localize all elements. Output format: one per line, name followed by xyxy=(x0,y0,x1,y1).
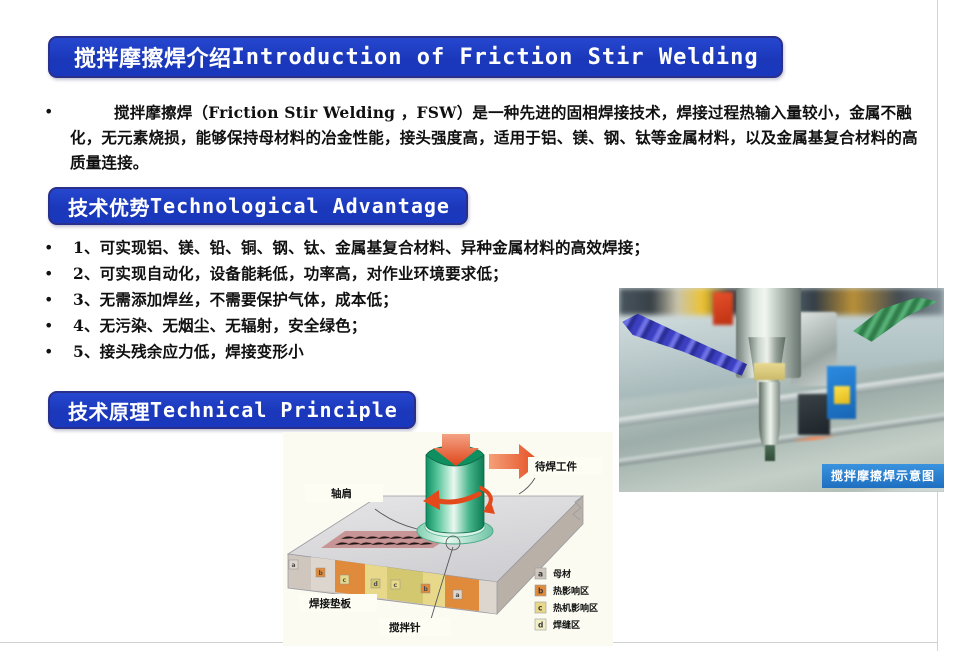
bullet-marker: • xyxy=(44,313,53,339)
heading-principle-en: Technical Principle xyxy=(150,398,398,422)
bullet-marker: • xyxy=(44,339,53,365)
zone-key-a-left: a xyxy=(292,562,296,569)
fsw-principle-diagram: 轴肩 待焊工件 焊接垫板 搅拌针 a b c d c b a xyxy=(283,432,613,646)
legend-label-c: 热机影响区 xyxy=(553,602,598,614)
introduction-paragraph-text: 搅拌摩擦焊（Friction Stir Welding ，FSW）是一种先进的固… xyxy=(70,100,924,175)
bullet-marker: • xyxy=(44,104,53,120)
heading-advantage-cn: 技术优势 xyxy=(68,192,150,221)
zone-base-right xyxy=(479,580,497,614)
legend-label-b: 热影响区 xyxy=(553,585,589,597)
bullet-marker: • xyxy=(44,235,53,261)
zone-key-c-right: c xyxy=(394,582,398,589)
heading-principle-cn: 技术原理 xyxy=(68,396,150,425)
legend-key-d: d xyxy=(538,621,543,630)
list-item-label: 3、无需添加焊丝，不需要保护气体，成本低； xyxy=(73,287,644,313)
heading-banner-advantage: 技术优势Technological Advantage xyxy=(48,187,468,225)
diagram-label-shoulder: 轴肩 xyxy=(331,487,352,500)
list-item: • 5、接头残余应力低，焊接变形小 xyxy=(44,339,644,365)
photo-welding-tool xyxy=(759,382,780,451)
photo-tool-collar xyxy=(754,363,785,379)
list-item: • 2、可实现自动化，设备能耗低，功率高，对作业环境要求低； xyxy=(44,261,644,287)
photo-red-part xyxy=(713,292,733,325)
legend-label-a: 母材 xyxy=(553,568,571,580)
photo-dark-bracket xyxy=(798,394,831,435)
fsw-machine-photo: 搅拌摩擦焊示意图 xyxy=(619,288,944,492)
heading-advantage-en: Technological Advantage xyxy=(150,194,450,218)
photo-caption: 搅拌摩擦焊示意图 xyxy=(822,464,944,488)
list-item: • 4、无污染、无烟尘、无辐射，安全绿色； xyxy=(44,313,644,339)
heading-introduction-en: Introduction of Friction Stir Welding xyxy=(232,45,759,70)
bullet-marker: • xyxy=(44,287,53,313)
heading-banner-introduction: 搅拌摩擦焊介绍Introduction of Friction Stir Wel… xyxy=(48,36,783,78)
diagram-label-workpiece: 待焊工件 xyxy=(535,460,577,473)
zone-key-b-left: b xyxy=(319,570,324,577)
zone-key-d: d xyxy=(374,581,378,588)
legend-key-a: a xyxy=(538,570,543,579)
zone-key-a-right: a xyxy=(456,592,460,599)
list-item-label: 5、接头残余应力低，焊接变形小 xyxy=(73,339,644,365)
heading-introduction-cn: 搅拌摩擦焊介绍 xyxy=(74,41,232,73)
list-item: • 1、可实现铝、镁、铅、铜、钢、钛、金属基复合材料、异种金属材料的高效焊接； xyxy=(44,235,644,261)
photo-yellow-marker xyxy=(834,386,850,404)
zone-key-c-left: c xyxy=(343,577,347,584)
diagram-label-backing-plate: 焊接垫板 xyxy=(309,597,351,610)
legend-key-b: b xyxy=(538,587,544,596)
list-item-label: 1、可实现铝、镁、铅、铜、钢、钛、金属基复合材料、异种金属材料的高效焊接； xyxy=(73,235,644,261)
bullet-marker: • xyxy=(44,261,53,287)
legend-key-c: c xyxy=(538,604,542,613)
diagram-label-stir-pin: 搅拌针 xyxy=(389,621,421,634)
list-item: • 3、无需添加焊丝，不需要保护气体，成本低； xyxy=(44,287,644,313)
list-item-label: 4、无污染、无烟尘、无辐射，安全绿色； xyxy=(73,313,644,339)
heading-banner-principle: 技术原理Technical Principle xyxy=(48,391,416,429)
zone-haz-left xyxy=(335,560,365,596)
zone-key-b-right: b xyxy=(424,586,429,593)
legend-label-d: 焊缝区 xyxy=(553,619,580,631)
list-item-label: 2、可实现自动化，设备能耗低，功率高，对作业环境要求低； xyxy=(73,261,644,287)
introduction-paragraph: • 搅拌摩擦焊（Friction Stir Welding ，FSW）是一种先进… xyxy=(44,100,924,175)
advantage-list: • 1、可实现铝、镁、铅、铜、钢、钛、金属基复合材料、异种金属材料的高效焊接； … xyxy=(44,235,644,365)
photo-tool-tip xyxy=(765,445,775,461)
